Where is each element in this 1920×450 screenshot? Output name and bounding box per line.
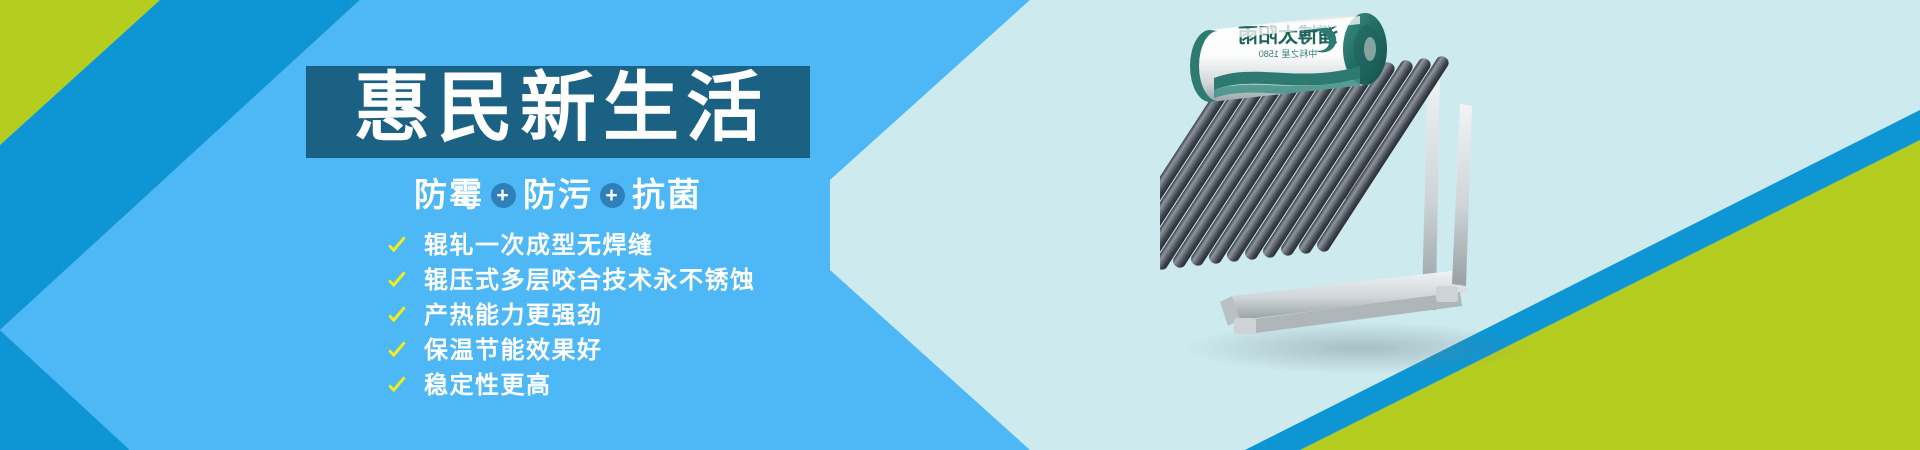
plus-icon: +	[600, 183, 625, 208]
page-title: 惠民新生活	[306, 57, 810, 161]
subtitle: 防霉 + 防污 + 抗菌	[306, 178, 810, 211]
support-frame-front	[1452, 104, 1472, 286]
subtitle-part-1: 防霉	[414, 178, 484, 211]
list-item-label: 稳定性更高	[424, 374, 552, 398]
check-icon	[386, 235, 408, 257]
feature-list: 辊轧一次成型无焊缝 辊压式多层咬合技术永不锈蚀 产热能力更强劲 保温节能效果好	[386, 231, 756, 400]
tank-model-text: 中科之星 1580	[1259, 48, 1318, 59]
check-icon	[386, 340, 408, 362]
list-item: 辊压式多层咬合技术永不锈蚀	[386, 266, 756, 295]
list-item: 保温节能效果好	[386, 336, 756, 365]
promo-banner: 惠民新生活 防霉 + 防污 + 抗菌 辊轧一次成型无焊缝 辊压式多层咬合技术永不…	[0, 0, 1920, 450]
list-item-label: 辊轧一次成型无焊缝	[424, 234, 654, 258]
product-image-solar-water-heater: 淄博太阳雨 中科之星 1580	[1160, 0, 1720, 450]
list-item: 产热能力更强劲	[386, 301, 756, 330]
subtitle-part-2: 防污	[523, 178, 593, 211]
list-item-label: 辊压式多层咬合技术永不锈蚀	[424, 269, 756, 293]
subtitle-part-3: 抗菌	[632, 178, 702, 211]
check-icon	[386, 375, 408, 397]
list-item-label: 保温节能效果好	[424, 339, 603, 363]
plus-icon: +	[491, 183, 516, 208]
list-item: 稳定性更高	[386, 371, 756, 400]
check-icon	[386, 270, 408, 292]
list-item-label: 产热能力更强劲	[424, 304, 603, 328]
check-icon	[386, 305, 408, 327]
list-item: 辊轧一次成型无焊缝	[386, 231, 756, 260]
